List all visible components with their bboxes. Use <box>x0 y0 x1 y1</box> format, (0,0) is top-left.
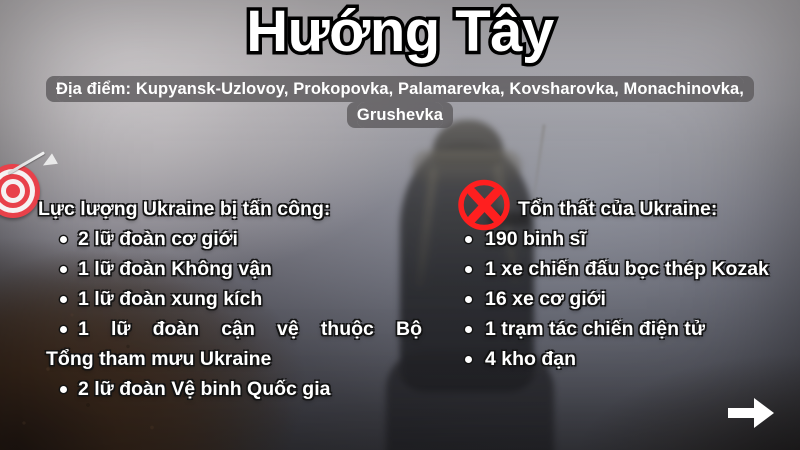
list-item: 1 lữ đoàn cận vệ thuộc Bộ Tổng tham mưu … <box>22 314 422 374</box>
list-item-text: 1 lữ đoàn xung kích <box>78 288 262 310</box>
list-item-text: 1 lữ đoàn Không vận <box>78 258 272 280</box>
bullet-icon <box>465 356 472 363</box>
ukraine-losses-heading: Tổn thất của Ukraine: <box>455 196 800 222</box>
list-item: 4 kho đạn <box>455 344 800 374</box>
bullet-icon <box>60 266 67 273</box>
list-item: 1 lữ đoàn Không vận <box>22 254 422 284</box>
list-item-text: 2 lữ đoàn Vệ binh Quốc gia <box>78 378 330 400</box>
list-item-text-line-2: Tổng tham mưu Ukraine <box>46 344 422 374</box>
list-item: 2 lữ đoàn Vệ binh Quốc gia <box>22 374 422 404</box>
ukraine-losses-block: Tổn thất của Ukraine: 190 binh sĩ 1 xe c… <box>455 196 800 374</box>
bullet-icon <box>60 326 67 333</box>
bullet-icon <box>60 296 67 303</box>
bullet-icon <box>60 386 67 393</box>
list-item-text: 190 binh sĩ <box>485 228 586 250</box>
list-item: 1 xe chiến đấu bọc thép Kozak <box>455 254 800 284</box>
list-item-text-line-1: 1 lữ đoàn cận vệ thuộc Bộ <box>78 314 422 344</box>
page-title: Hướng Tây <box>0 2 800 61</box>
target-bullseye <box>6 184 20 198</box>
ukraine-losses-list: 190 binh sĩ 1 xe chiến đấu bọc thép Koza… <box>455 224 800 374</box>
bullet-icon <box>465 236 472 243</box>
list-item: 2 lữ đoàn cơ giới <box>22 224 422 254</box>
slide-content: Hướng Tây Địa điểm: Kupyansk-Uzlovoy, Pr… <box>0 0 800 450</box>
attacked-forces-list: 2 lữ đoàn cơ giới 1 lữ đoàn Không vận 1 … <box>22 224 422 404</box>
list-item-text: 16 xe cơ giới <box>485 288 606 310</box>
bullet-icon <box>465 266 472 273</box>
list-item-text: 2 lữ đoàn cơ giới <box>78 228 238 250</box>
attacked-forces-heading: Lực lượng Ukraine bị tấn công: <box>22 196 422 222</box>
list-item: 190 binh sĩ <box>455 224 800 254</box>
slide-canvas: Hướng Tây Địa điểm: Kupyansk-Uzlovoy, Pr… <box>0 0 800 450</box>
bullet-icon <box>60 236 67 243</box>
bullet-icon <box>465 326 472 333</box>
list-item: 1 lữ đoàn xung kích <box>22 284 422 314</box>
bullet-icon <box>465 296 472 303</box>
list-item: 1 trạm tác chiến điện tử <box>455 314 800 344</box>
list-item-text: 1 trạm tác chiến điện tử <box>485 318 705 340</box>
list-item-text: 1 xe chiến đấu bọc thép Kozak <box>485 258 769 280</box>
list-item-text: 4 kho đạn <box>485 348 576 370</box>
dart-fletch <box>40 153 58 170</box>
location-banner: Địa điểm: Kupyansk-Uzlovoy, Prokopovka, … <box>37 76 763 128</box>
location-banner-text: Địa điểm: Kupyansk-Uzlovoy, Prokopovka, … <box>56 76 744 128</box>
list-item: 16 xe cơ giới <box>455 284 800 314</box>
attacked-forces-block: Lực lượng Ukraine bị tấn công: 2 lữ đoàn… <box>22 196 422 404</box>
arrow-right-icon[interactable] <box>728 398 774 428</box>
